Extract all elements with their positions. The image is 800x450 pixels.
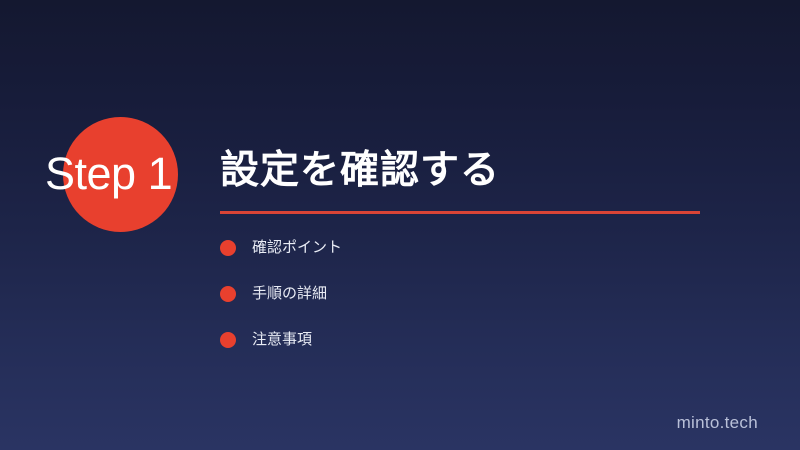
slide-title: 設定を確認する — [220, 146, 500, 196]
list-item: 手順の詳細 — [220, 286, 660, 332]
bullet-dot-icon — [220, 240, 236, 256]
bullet-dot-icon — [220, 332, 236, 348]
list-item: 注意事項 — [220, 332, 660, 378]
bullet-list: 確認ポイント 手順の詳細 注意事項 — [220, 240, 660, 378]
slide-canvas: Step 1 設定を確認する 確認ポイント 手順の詳細 注意事項 minto.t… — [0, 0, 800, 450]
list-item-label: 確認ポイント — [252, 239, 342, 257]
bullet-dot-icon — [220, 286, 236, 302]
list-item: 確認ポイント — [220, 240, 660, 286]
brand-watermark: minto.tech — [677, 413, 758, 433]
list-item-label: 注意事項 — [252, 331, 312, 349]
list-item-label: 手順の詳細 — [252, 285, 327, 303]
title-divider — [220, 211, 700, 214]
